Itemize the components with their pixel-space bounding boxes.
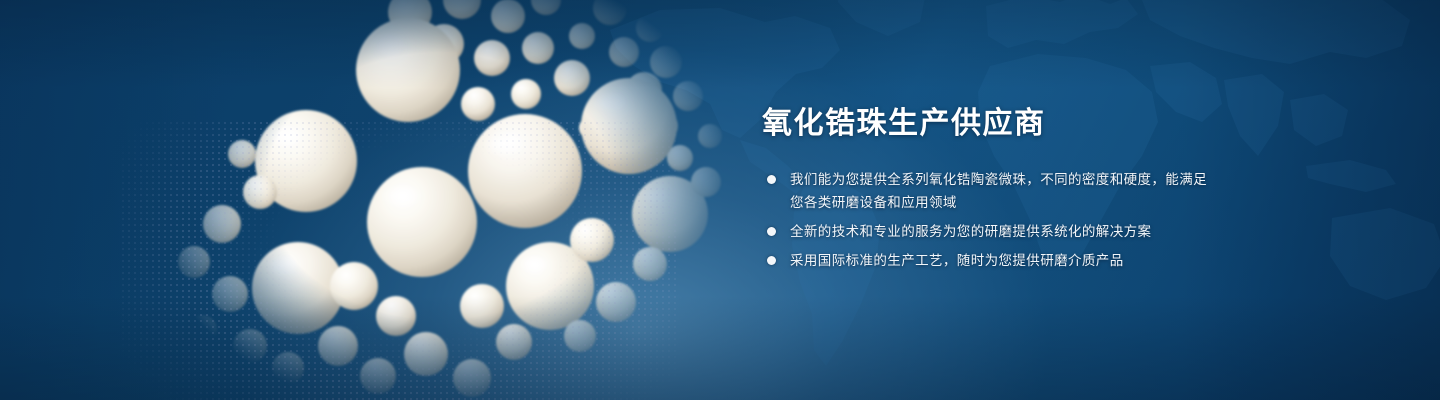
feature-text: 采用国际标准的生产工艺，随时为您提供研磨介质产品 — [790, 249, 1210, 272]
bullet-dot-icon — [767, 256, 776, 265]
bullet-dot-icon — [767, 227, 776, 236]
feature-text: 我们能为您提供全系列氧化锆陶瓷微珠，不同的密度和硬度，能满足您各类研磨设备和应用… — [790, 168, 1210, 214]
hero-banner: 氧化锆珠生产供应商 我们能为您提供全系列氧化锆陶瓷微珠，不同的密度和硬度，能满足… — [0, 0, 1440, 400]
feature-text: 全新的技术和专业的服务为您的研磨提供系统化的解决方案 — [790, 220, 1210, 243]
bullet-dot-icon — [767, 175, 776, 184]
feature-list-item: 全新的技术和专业的服务为您的研磨提供系统化的解决方案 — [762, 220, 1382, 243]
feature-list-item: 我们能为您提供全系列氧化锆陶瓷微珠，不同的密度和硬度，能满足您各类研磨设备和应用… — [762, 168, 1382, 214]
feature-list: 我们能为您提供全系列氧化锆陶瓷微珠，不同的密度和硬度，能满足您各类研磨设备和应用… — [762, 168, 1382, 272]
banner-copy: 氧化锆珠生产供应商 我们能为您提供全系列氧化锆陶瓷微珠，不同的密度和硬度，能满足… — [762, 104, 1382, 272]
banner-headline: 氧化锆珠生产供应商 — [762, 104, 1382, 144]
feature-list-item: 采用国际标准的生产工艺，随时为您提供研磨介质产品 — [762, 249, 1382, 272]
